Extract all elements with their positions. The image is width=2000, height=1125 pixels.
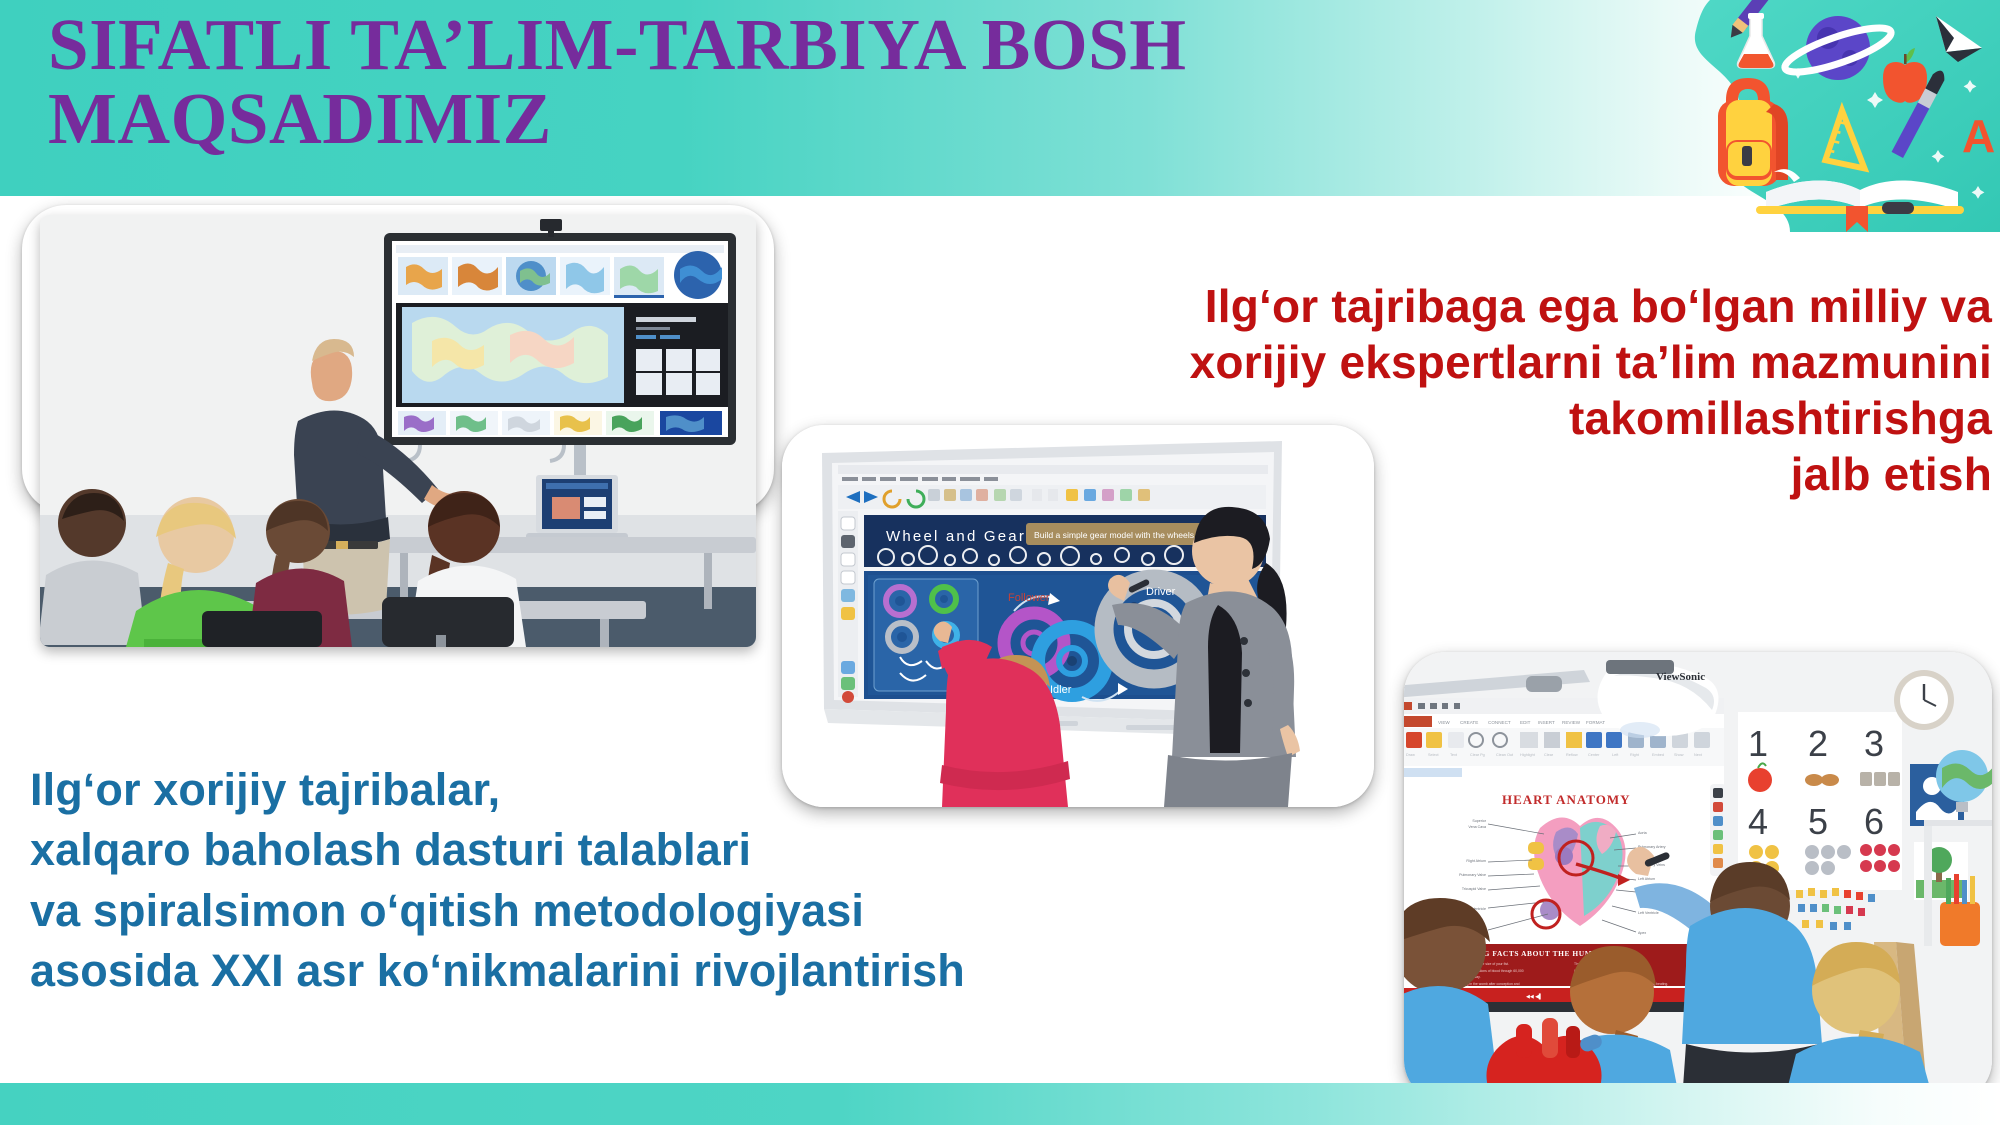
svg-text:4: 4: [1748, 801, 1768, 842]
page-title: SIFATLI TA’LIM-TARBIYA BOSH MAQSADIMIZ: [48, 8, 1548, 157]
svg-text:Clear Pg: Clear Pg: [1470, 753, 1485, 757]
slide-root: SIFATLI TA’LIM-TARBIYA BOSH MAQSADIMIZ: [0, 0, 2000, 1125]
svg-text:Wheel and Gears: Wheel and Gears: [886, 528, 1036, 545]
heart-anatomy-classroom-card: VIEWCREATECONNECT EDITINSERTREVIEW FORMA…: [1404, 652, 1992, 1102]
svg-text:Idler: Idler: [1050, 684, 1072, 696]
svg-text:Embed: Embed: [1652, 753, 1664, 757]
svg-text:Build a simple gear model with: Build a simple gear model with the wheel…: [1034, 530, 1196, 540]
svg-text:◀◀ ◀▌: ◀◀ ◀▌: [1526, 993, 1542, 1000]
svg-text:2: 2: [1808, 723, 1828, 764]
letter-a-icon: A: [1962, 110, 1995, 162]
svg-text:HEART ANATOMY: HEART ANATOMY: [1502, 792, 1630, 807]
svg-text:Driver: Driver: [1146, 586, 1176, 598]
svg-text:Center: Center: [1588, 753, 1600, 757]
svg-text:Aorta: Aorta: [1638, 831, 1647, 835]
svg-text:VIEW: VIEW: [1438, 720, 1450, 725]
svg-text:Tricuspid Valve: Tricuspid Valve: [1462, 887, 1486, 891]
svg-text:FORMAT: FORMAT: [1586, 720, 1605, 725]
svg-text:3: 3: [1864, 723, 1884, 764]
svg-text:Apex: Apex: [1638, 931, 1646, 935]
svg-text:Show: Show: [1674, 753, 1684, 757]
svg-text:INSERT: INSERT: [1538, 720, 1555, 725]
heart-anatomy-classroom-photo: VIEWCREATECONNECT EDITINSERTREVIEW FORMA…: [1404, 652, 1992, 1102]
svg-text:Left Ventricle: Left Ventricle: [1638, 911, 1659, 915]
blue-objective-text: Ilg‘or xorijiy tajribalar, xalqaro bahol…: [30, 760, 1390, 1001]
svg-text:Text: Text: [1450, 753, 1458, 757]
svg-text:REVIEW: REVIEW: [1562, 720, 1581, 725]
svg-text:Draw: Draw: [1406, 753, 1415, 757]
svg-text:Next: Next: [1694, 753, 1703, 757]
smartboard-gears-photo: Wheel and Gears Build a simple gear mode…: [782, 425, 1374, 807]
svg-text:Left Atrium: Left Atrium: [1638, 877, 1655, 881]
svg-text:Superior: Superior: [1472, 819, 1486, 823]
wall-clock: [1894, 670, 1954, 730]
svg-text:Follower: Follower: [1008, 592, 1050, 604]
svg-text:Highlight: Highlight: [1520, 753, 1536, 757]
smartboard-gears-card: Wheel and Gears Build a simple gear mode…: [782, 425, 1374, 807]
laptop: [526, 475, 628, 540]
education-decor-illustration: A: [1670, 0, 2000, 232]
svg-text:Clear: Clear: [1544, 753, 1554, 757]
svg-text:6: 6: [1864, 801, 1884, 842]
svg-text:Vena Cava: Vena Cava: [1468, 825, 1486, 829]
svg-text:5: 5: [1808, 801, 1828, 842]
svg-text:Pulmonary Valve: Pulmonary Valve: [1459, 873, 1486, 877]
classroom-lecture-photo: [40, 215, 756, 647]
svg-text:A: A: [1962, 110, 1995, 162]
svg-text:CONNECT: CONNECT: [1488, 720, 1511, 725]
number-chart: 1 2 3 4 5 6: [1738, 712, 1902, 890]
svg-text:EDIT: EDIT: [1520, 720, 1531, 725]
svg-text:ViewSonic: ViewSonic: [1656, 671, 1705, 683]
svg-text:Reflow: Reflow: [1566, 753, 1578, 757]
svg-text:Clean Out: Clean Out: [1496, 753, 1514, 757]
svg-text:Left: Left: [1612, 753, 1619, 757]
footer-band: [0, 1083, 2000, 1125]
projector: ViewSonic: [1598, 660, 1719, 738]
svg-text:Select: Select: [1428, 753, 1439, 757]
svg-text:CREATE: CREATE: [1460, 720, 1478, 725]
svg-text:1: 1: [1748, 723, 1768, 764]
svg-text:Right Atrium: Right Atrium: [1466, 859, 1486, 863]
svg-text:Right: Right: [1630, 753, 1640, 757]
